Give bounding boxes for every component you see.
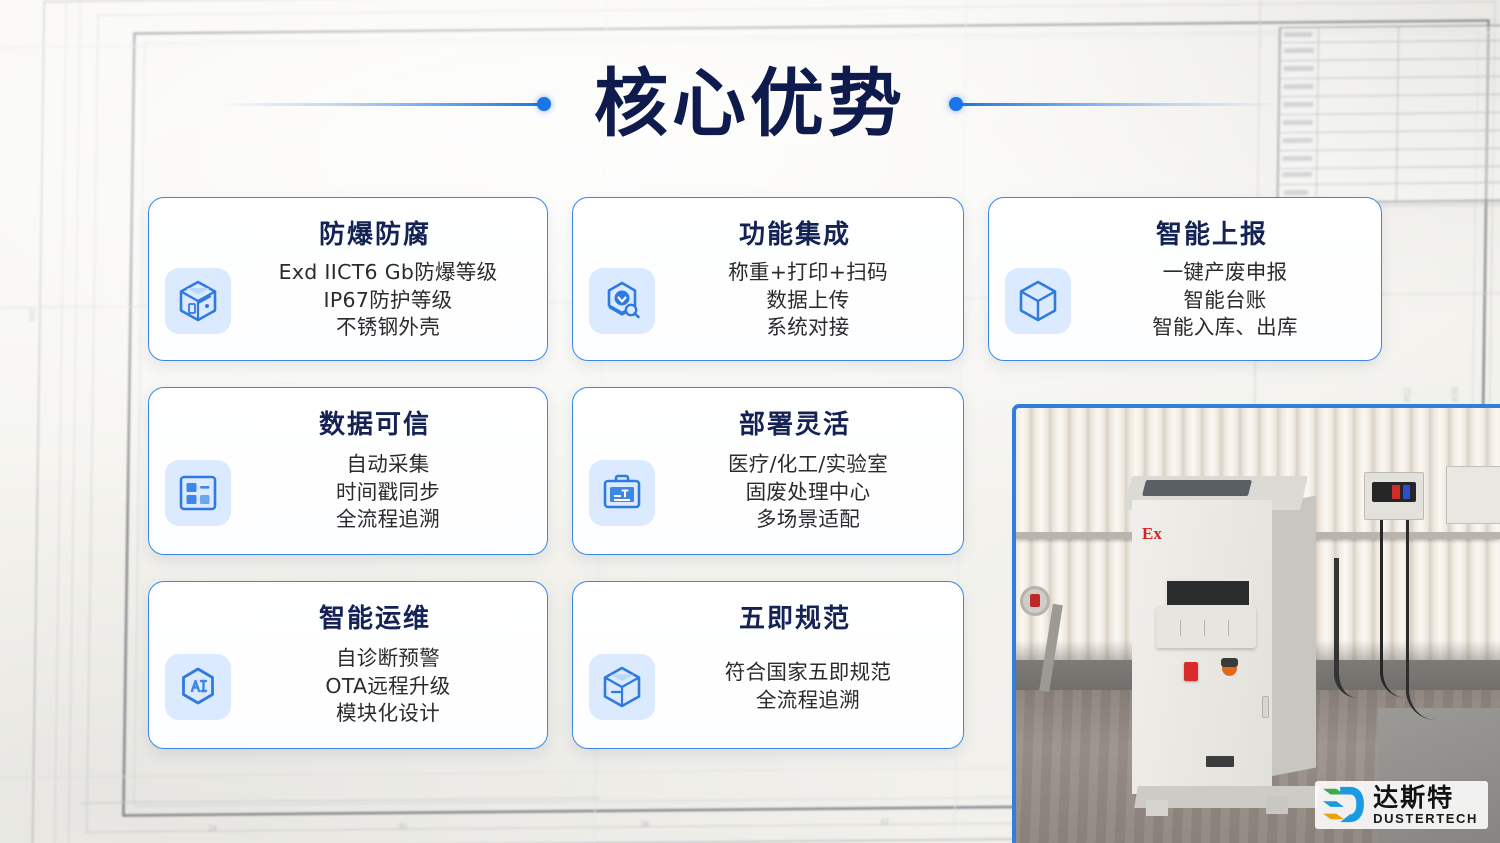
card-body: 自诊断预警 OTA远程升级 模块化设计 xyxy=(165,637,531,736)
card-body: 称重+打印+扫码 数据上传 系统对接 xyxy=(589,253,947,348)
card-line: 自诊断预警 xyxy=(245,645,531,672)
card-line: OTA远程升级 xyxy=(245,673,531,700)
card-line: 系统对接 xyxy=(669,314,947,341)
card-line: 模块化设计 xyxy=(245,700,531,727)
cable-from-control-box xyxy=(1380,520,1406,698)
cabinet-foot xyxy=(1266,796,1288,814)
card-line: 不锈钢外壳 xyxy=(245,314,531,341)
card-line: 医疗/化工/实验室 xyxy=(669,451,947,478)
cabinet-side xyxy=(1270,496,1316,777)
logo-text-en: DUSTERTECH xyxy=(1373,812,1478,825)
toolbox-icon xyxy=(589,460,655,526)
decoration-dot xyxy=(537,97,551,111)
dustertech-logo-mark xyxy=(1321,785,1365,825)
nameplate xyxy=(1206,756,1234,767)
advantage-card-function-integration[interactable]: 功能集成 xyxy=(572,197,964,361)
advantage-card-explosion-proof[interactable]: 防爆防腐 xyxy=(148,197,548,361)
card-body: 符合国家五即规范 全流程追溯 xyxy=(589,637,947,736)
printer-slot xyxy=(1164,578,1252,608)
card-title: 防爆防腐 xyxy=(165,214,531,251)
advantage-card-five-immediate-standards[interactable]: 五即规范 符合国家五即规范 xyxy=(572,581,964,749)
card-line: 时间戳同步 xyxy=(245,479,531,506)
card-lines: 一键产废申报 智能台账 智能入库、出库 xyxy=(1085,259,1365,341)
decoration-dot xyxy=(949,97,963,111)
card-lines: 自诊断预警 OTA远程升级 模块化设计 xyxy=(245,645,531,727)
logo-text: 达斯特 DUSTERTECH xyxy=(1373,785,1478,825)
title-decoration-right xyxy=(952,102,1282,106)
output-tray xyxy=(1156,606,1256,648)
card-line: 固废处理中心 xyxy=(669,479,947,506)
wall-panel-right xyxy=(1446,466,1500,524)
card-lines: 医疗/化工/实验室 固废处理中心 多场景适配 xyxy=(669,451,947,533)
card-title: 部署灵活 xyxy=(589,404,947,441)
card-line: 一键产废申报 xyxy=(1085,259,1365,286)
box-line-icon xyxy=(589,654,655,720)
card-body: 一键产废申报 智能台账 智能入库、出库 xyxy=(1005,253,1365,348)
control-box-blue-switch xyxy=(1403,485,1410,499)
hose-line xyxy=(1334,558,1358,698)
logo-text-cn: 达斯特 xyxy=(1373,785,1478,810)
page-title: 核心优势 xyxy=(548,67,952,141)
card-body: 自动采集 时间戳同步 全流程追溯 xyxy=(165,443,531,542)
card-line: 称重+打印+扫码 xyxy=(669,259,947,286)
card-line: 数据上传 xyxy=(669,287,947,314)
advantage-card-trusted-data[interactable]: 数据可信 自动采集 xyxy=(148,387,548,555)
cable-secondary xyxy=(1406,520,1446,720)
verified-scan-icon xyxy=(589,268,655,334)
card-line: 智能台账 xyxy=(1085,287,1365,314)
cabinet-lid-opening xyxy=(1142,480,1252,496)
slide-content: 核心优势 防爆防腐 xyxy=(0,0,1500,843)
card-line: 全流程追溯 xyxy=(245,506,531,533)
card-title: 智能运维 xyxy=(165,598,531,635)
card-row-1: 防爆防腐 xyxy=(148,197,1386,361)
card-title: 智能上报 xyxy=(1005,214,1365,251)
advantage-card-smart-reporting[interactable]: 智能上报 一键产废申报 智能台账 智能入库、出库 xyxy=(988,197,1382,361)
emergency-button-shroud xyxy=(1221,658,1238,667)
brand-logo: 达斯特 DUSTERTECH xyxy=(1315,781,1488,829)
card-title: 五即规范 xyxy=(589,598,947,635)
equipment-photo: Ex 达 xyxy=(1012,404,1500,843)
cube-icon xyxy=(1005,268,1071,334)
card-body: 医疗/化工/实验室 固废处理中心 多场景适配 xyxy=(589,443,947,542)
card-lines: 称重+打印+扫码 数据上传 系统对接 xyxy=(669,259,947,341)
advantage-card-flexible-deployment[interactable]: 部署灵活 xyxy=(572,387,964,555)
card-line: IP67防护等级 xyxy=(245,287,531,314)
card-title: 数据可信 xyxy=(165,404,531,441)
card-body: Exd IICT6 Gb防爆等级 IP67防护等级 不锈钢外壳 xyxy=(165,253,531,348)
card-line: 自动采集 xyxy=(245,451,531,478)
title-row: 核心优势 xyxy=(0,54,1500,154)
open-cube-icon xyxy=(165,268,231,334)
card-lines: Exd IICT6 Gb防爆等级 IP67防护等级 不锈钢外壳 xyxy=(245,259,531,341)
decoration-line xyxy=(218,103,548,106)
control-box-red-switch xyxy=(1392,485,1400,499)
title-decoration-left xyxy=(218,102,548,106)
card-line: 全流程追溯 xyxy=(669,687,947,714)
cabinet-foot xyxy=(1146,800,1168,816)
card-title: 功能集成 xyxy=(589,214,947,251)
valve-indicator xyxy=(1030,594,1040,607)
card-line: 符合国家五即规范 xyxy=(669,659,947,686)
ex-rating-label: Ex xyxy=(1142,524,1162,544)
cabinet-handle xyxy=(1262,696,1269,718)
advantage-card-smart-maintenance[interactable]: 智能运维 自诊断预警 OTA远程升级 模块化设计 xyxy=(148,581,548,749)
dashboard-grid-icon xyxy=(165,460,231,526)
card-line: 多场景适配 xyxy=(669,506,947,533)
slide-canvas: 24 30 36 42 48 54 800 R12 R20 核心优势 xyxy=(0,0,1500,843)
card-line: 智能入库、出库 xyxy=(1085,314,1365,341)
red-button xyxy=(1184,662,1198,681)
card-lines: 符合国家五即规范 全流程追溯 xyxy=(669,659,947,714)
card-line: Exd IICT6 Gb防爆等级 xyxy=(245,259,531,286)
decoration-line xyxy=(952,103,1282,106)
ai-hexagon-icon xyxy=(165,654,231,720)
card-lines: 自动采集 时间戳同步 全流程追溯 xyxy=(245,451,531,533)
